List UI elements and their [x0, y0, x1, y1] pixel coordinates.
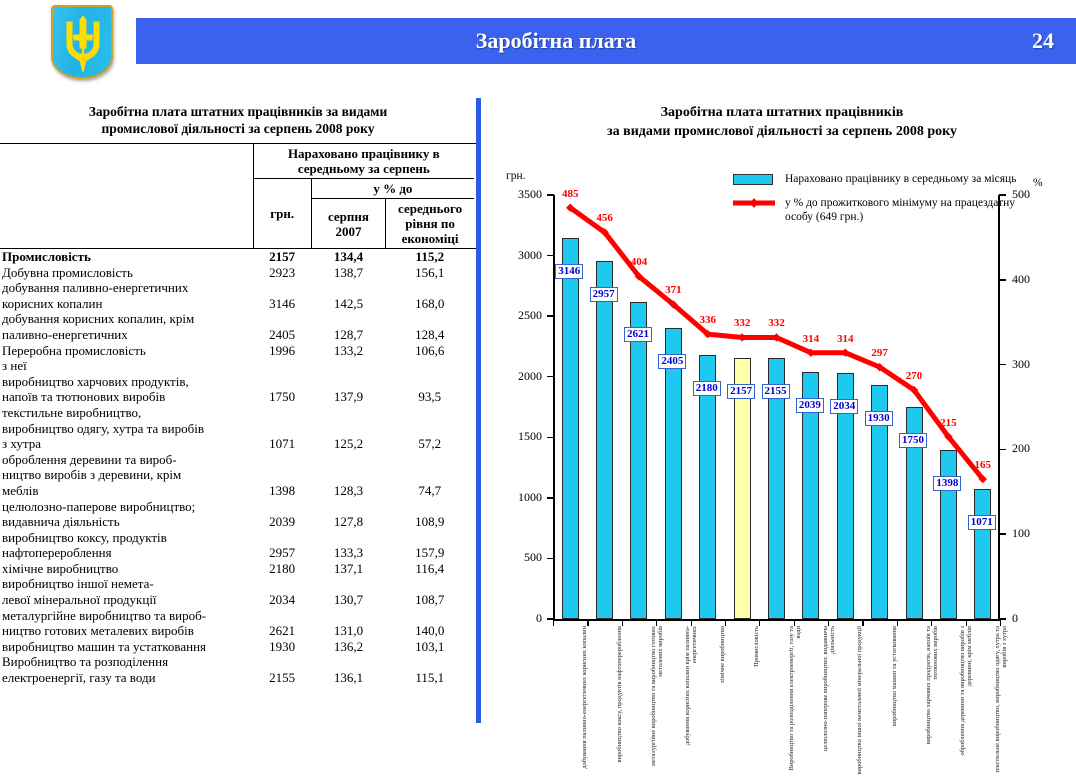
table-row: виробництво іншої немета-	[2, 576, 474, 592]
table-cell-name: целюлозно-паперове виробництво;	[2, 499, 253, 515]
table-row: електроенергії, газу та води2155136,1115…	[2, 670, 474, 686]
table-cell-grn: 1071	[253, 436, 311, 452]
x-axis-category-label: оброблення деревини та виробництво вироб…	[959, 626, 985, 776]
table-row: нафтоперероблення2957133,3157,9	[2, 545, 474, 561]
table-cell-avg: 103,1	[386, 639, 474, 655]
group-line2: середньому за серпень	[255, 161, 473, 176]
table-cell-empty	[386, 421, 474, 437]
table-cell-avg: 140,0	[386, 623, 474, 639]
y-axis-tick-label: 2500	[502, 308, 542, 323]
table-cell-empty	[311, 654, 385, 670]
table-cell-name: нафтоперероблення	[2, 545, 253, 561]
aug-line2: 2007	[313, 224, 384, 239]
table-cell-name: з неї	[2, 358, 253, 374]
y-axis-tick-label: 0	[502, 611, 542, 626]
y2-axis-tick-label: 300	[1012, 357, 1052, 372]
table-cell-empty	[386, 530, 474, 546]
x-axis-category-label: металургійне виробництво та виробництво …	[650, 626, 676, 776]
table-cell-grn: 2405	[253, 327, 311, 343]
table-cell-empty	[253, 654, 311, 670]
table-cell-empty	[253, 280, 311, 296]
table-header: Нараховано працівнику в середньому за се…	[0, 143, 476, 249]
x-axis-category-label: виробництво харчових продуктів, напоїв т…	[925, 626, 951, 776]
table-header-percent: у % до	[311, 179, 474, 199]
table-cell-avg: 115,2	[386, 249, 474, 265]
table-cell-aug: 134,4	[311, 249, 385, 265]
table-row: добування паливно-енергетичних	[2, 280, 474, 296]
table-body: Промисловість2157134,4115,2Добувна проми…	[2, 249, 474, 686]
table-title: Заробітна плата штатних працівників за в…	[0, 95, 476, 143]
table-row: виробництво машин та устатковання1930136…	[2, 639, 474, 655]
x-axis-category-label: виробництво машин та устатковання	[891, 626, 917, 776]
table-cell-aug: 127,8	[311, 514, 385, 530]
table-row: текстильне виробництво,	[2, 405, 474, 421]
x-axis-category-label: целюлозно-паперове виробництво; видавнич…	[822, 626, 848, 776]
table-row: ництво виробів з деревини, крім	[2, 467, 474, 483]
table-cell-grn: 2155	[253, 670, 311, 686]
chart-title-line2: за видами промислової діяльності за серп…	[488, 122, 1076, 141]
table-cell-aug: 137,1	[311, 561, 385, 577]
y2-axis-tick-label: 0	[1012, 611, 1052, 626]
x-axis-category-label: виробництво коксу, продуктів нафтопереро…	[616, 626, 642, 776]
table-header-group: Нараховано працівнику в середньому за се…	[253, 144, 474, 179]
table-cell-empty	[386, 311, 474, 327]
table-cell-name: Переробна промисловість	[2, 343, 253, 359]
table-cell-aug: 130,7	[311, 592, 385, 608]
chart-title: Заробітна плата штатних працівників за в…	[488, 95, 1076, 141]
chart-plot-area: грн. % 0500100015002000250030003500 0100…	[488, 160, 1076, 720]
table-row: меблів1398128,374,7	[2, 483, 474, 499]
x-axis-category-label: виробництво іншої неметалевої мінерально…	[856, 626, 882, 776]
table-cell-name: текстильне виробництво,	[2, 405, 253, 421]
table-header-grn: грн.	[253, 179, 311, 249]
table-cell-name: електроенергії, газу та води	[2, 670, 253, 686]
table-cell-empty	[311, 499, 385, 515]
legend-item-bars: Нараховано працівнику в середньому за мі…	[733, 172, 1033, 186]
aug-line1: серпня	[313, 209, 384, 224]
y-axis-tick-label: 1000	[502, 490, 542, 505]
line-value-label: 404	[623, 256, 655, 268]
table-cell-empty	[386, 576, 474, 592]
table-cell-aug: 128,3	[311, 483, 385, 499]
x-axis-line	[553, 619, 1000, 621]
table-cell-empty	[253, 374, 311, 390]
table-cell-avg: 128,4	[386, 327, 474, 343]
y2-axis-tick-label: 400	[1012, 272, 1052, 287]
table-row: паливно-енергетичних2405128,7128,4	[2, 327, 474, 343]
table-cell-name: левої мінеральної продукції	[2, 592, 253, 608]
table-cell-avg: 93,5	[386, 389, 474, 405]
table-cell-avg: 106,6	[386, 343, 474, 359]
table-cell-grn: 2923	[253, 265, 311, 281]
title-bar: Заробітна плата 24	[136, 18, 1076, 64]
table-cell-empty	[386, 280, 474, 296]
table-cell-avg: 168,0	[386, 296, 474, 312]
table-row: Переробна промисловість1996133,2106,6	[2, 343, 474, 359]
table-cell-avg: 108,9	[386, 514, 474, 530]
y-axis-tick-label: 500	[502, 550, 542, 565]
chart-title-line1: Заробітна плата штатних працівників	[488, 103, 1076, 122]
table-header-avg: середнього рівня по економіці	[386, 199, 474, 249]
chart-panel: Заробітна плата штатних працівників за в…	[488, 95, 1076, 723]
table-row: металургійне виробництво та вироб-	[2, 608, 474, 624]
table-cell-name: добування паливно-енергетичних	[2, 280, 253, 296]
line-value-label: 314	[829, 333, 861, 345]
line-value-label: 332	[726, 317, 758, 329]
table-cell-grn: 1398	[253, 483, 311, 499]
table-cell-grn: 2034	[253, 592, 311, 608]
table-cell-empty	[311, 311, 385, 327]
line-value-label: 332	[761, 317, 793, 329]
table-cell-name: з хутра	[2, 436, 253, 452]
line-value-label: 314	[795, 333, 827, 345]
table-row: виробництво одягу, хутра та виробів	[2, 421, 474, 437]
table-cell-name: виробництво машин та устатковання	[2, 639, 253, 655]
y2-axis-tick	[999, 279, 1006, 281]
table-cell-empty	[253, 405, 311, 421]
table-cell-name: виробництво харчових продуктів,	[2, 374, 253, 390]
table-cell-empty	[386, 374, 474, 390]
table-cell-empty	[311, 405, 385, 421]
y2-axis-tick-label: 200	[1012, 441, 1052, 456]
x-axis-category-label: Виробництво та розподілення електроенерг…	[788, 626, 814, 776]
line-value-label: 165	[967, 459, 999, 471]
table-cell-avg	[386, 358, 474, 374]
line-value-label: 215	[932, 417, 964, 429]
legend-line-label: у % до прожиткового мінімуму на працезда…	[785, 197, 1015, 223]
table-cell-name: ництво готових металевих виробів	[2, 623, 253, 639]
table-cell-aug: 131,0	[311, 623, 385, 639]
table-row: Промисловість2157134,4115,2	[2, 249, 474, 265]
x-axis-category-label: Промисловість	[753, 626, 779, 776]
table-cell-grn: 2180	[253, 561, 311, 577]
table-cell-grn: 2957	[253, 545, 311, 561]
table-cell-grn	[253, 358, 311, 374]
table-cell-empty	[311, 576, 385, 592]
table-cell-aug: 142,5	[311, 296, 385, 312]
table-cell-name: добування корисних копалин, крім	[2, 311, 253, 327]
table-cell-name: паливно-енергетичних	[2, 327, 253, 343]
table-header-blank	[2, 144, 253, 248]
table-row: корисних копалин3146142,5168,0	[2, 296, 474, 312]
table-cell-empty	[253, 311, 311, 327]
table-row: левої мінеральної продукції2034130,7108,…	[2, 592, 474, 608]
table-cell-aug: 133,2	[311, 343, 385, 359]
table-cell-empty	[253, 452, 311, 468]
line-value-label: 371	[657, 284, 689, 296]
table-cell-aug	[311, 358, 385, 374]
group-line1: Нараховано працівнику в	[255, 146, 473, 161]
table-cell-empty	[311, 280, 385, 296]
table-row: целюлозно-паперове виробництво;	[2, 499, 474, 515]
y-axis-tick-label: 2000	[502, 369, 542, 384]
table-cell-avg: 115,1	[386, 670, 474, 686]
table-cell-name: видавнича діяльність	[2, 514, 253, 530]
avg-line3: економіці	[387, 231, 473, 246]
table-row: ництво готових металевих виробів2621131,…	[2, 623, 474, 639]
y-axis-unit-label: грн.	[506, 170, 526, 182]
table-cell-avg: 57,2	[386, 436, 474, 452]
table-cell-name: виробництво іншої немета-	[2, 576, 253, 592]
table-cell-name: ництво виробів з деревини, крім	[2, 467, 253, 483]
table-row: виробництво харчових продуктів,	[2, 374, 474, 390]
table-row: з хутра1071125,257,2	[2, 436, 474, 452]
table-row: Виробництво та розподілення	[2, 654, 474, 670]
table-cell-grn: 1996	[253, 343, 311, 359]
line-value-label: 336	[692, 314, 724, 326]
table-cell-empty	[253, 576, 311, 592]
table-row: оброблення деревини та вироб-	[2, 452, 474, 468]
table-cell-name: корисних копалин	[2, 296, 253, 312]
y2-axis-tick-label: 100	[1012, 526, 1052, 541]
table-cell-avg: 157,9	[386, 545, 474, 561]
table-cell-name: металургійне виробництво та вироб-	[2, 608, 253, 624]
table-cell-grn: 3146	[253, 296, 311, 312]
table-cell-name: Промисловість	[2, 249, 253, 265]
table-cell-empty	[311, 374, 385, 390]
table-cell-empty	[253, 467, 311, 483]
table-header-aug2007: серпня 2007	[311, 199, 385, 249]
table-cell-empty	[253, 421, 311, 437]
ukraine-coat-of-arms-icon	[47, 2, 119, 84]
table-cell-grn: 2157	[253, 249, 311, 265]
table-row: напоїв та тютюнових виробів1750137,993,5	[2, 389, 474, 405]
table-panel: Заробітна плата штатних працівників за в…	[0, 95, 476, 723]
chart-legend: Нараховано працівнику в середньому за мі…	[733, 172, 1033, 234]
y-axis-tick-label: 1500	[502, 429, 542, 444]
table-cell-empty	[253, 530, 311, 546]
table-cell-empty	[253, 608, 311, 624]
line-value-label: 485	[554, 188, 586, 200]
table-cell-grn: 1750	[253, 389, 311, 405]
table-cell-empty	[311, 530, 385, 546]
table-cell-aug: 138,7	[311, 265, 385, 281]
table-cell-grn: 2621	[253, 623, 311, 639]
table-cell-empty	[386, 452, 474, 468]
y2-axis-tick	[999, 449, 1006, 451]
table-cell-empty	[386, 608, 474, 624]
x-axis-category-label: хімічне виробництво	[719, 626, 745, 776]
legend-bar-label: Нараховано працівнику в середньому за мі…	[785, 173, 1016, 185]
table-cell-empty	[386, 654, 474, 670]
y2-axis-tick	[999, 364, 1006, 366]
legend-bar-swatch-icon	[733, 174, 773, 185]
table-cell-name: меблів	[2, 483, 253, 499]
table-cell-name: хімічне виробництво	[2, 561, 253, 577]
table-cell-name: оброблення деревини та вироб-	[2, 452, 253, 468]
table-row: хімічне виробництво2180137,1116,4	[2, 561, 474, 577]
table-cell-name: напоїв та тютюнових виробів	[2, 389, 253, 405]
table-cell-name: Добувна промисловість	[2, 265, 253, 281]
table-row: виробництво коксу, продуктів	[2, 530, 474, 546]
table-cell-grn: 1930	[253, 639, 311, 655]
line-value-label: 456	[589, 212, 621, 224]
y-axis-tick-label: 3000	[502, 248, 542, 263]
y2-axis-tick	[999, 533, 1006, 535]
table-cell-aug: 128,7	[311, 327, 385, 343]
x-axis-category-label: добування корисних копалин крім паливно-…	[684, 626, 710, 776]
avg-line2: рівня по	[387, 216, 473, 231]
line-path	[570, 208, 983, 479]
table-cell-name: виробництво коксу, продуктів	[2, 530, 253, 546]
table-row: видавнича діяльність2039127,8108,9	[2, 514, 474, 530]
vertical-divider	[476, 98, 481, 723]
legend-line-swatch-icon	[733, 197, 775, 209]
table-cell-aug: 136,1	[311, 670, 385, 686]
line-series	[553, 195, 1000, 619]
table-row: добування корисних копалин, крім	[2, 311, 474, 327]
table-cell-empty	[311, 421, 385, 437]
table-cell-empty	[311, 608, 385, 624]
table-cell-avg: 108,7	[386, 592, 474, 608]
table-cell-empty	[386, 467, 474, 483]
table-cell-grn: 2039	[253, 514, 311, 530]
line-value-label: 270	[898, 370, 930, 382]
table-title-line2: промислової діяльності за серпень 2008 р…	[12, 120, 464, 137]
table-cell-avg: 116,4	[386, 561, 474, 577]
slide-header: Заробітна плата 24	[0, 0, 1076, 90]
table-cell-name: виробництво одягу, хутра та виробів	[2, 421, 253, 437]
table-cell-empty	[386, 405, 474, 421]
table-cell-aug: 125,2	[311, 436, 385, 452]
table-row: з неї	[2, 358, 474, 374]
line-marker	[738, 333, 746, 341]
table-cell-avg: 156,1	[386, 265, 474, 281]
table-cell-avg: 74,7	[386, 483, 474, 499]
table-cell-aug: 133,3	[311, 545, 385, 561]
table-cell-empty	[386, 499, 474, 515]
avg-line1: середнього	[387, 201, 473, 216]
page-title: Заробітна плата	[136, 18, 976, 64]
table-cell-empty	[311, 452, 385, 468]
legend-item-line: у % до прожиткового мінімуму на працезда…	[733, 196, 1033, 224]
x-axis-category-label: добування паливно-енергетичних корисних …	[581, 626, 607, 776]
table-title-line1: Заробітна плата штатних працівників за в…	[12, 103, 464, 120]
slide-number: 24	[1032, 18, 1054, 64]
x-axis-category-label: текстильне виробництво, виробництво одяг…	[994, 626, 1020, 776]
line-value-label: 297	[864, 347, 896, 359]
table-cell-empty	[311, 467, 385, 483]
table-cell-name: Виробництво та розподілення	[2, 654, 253, 670]
table-row: Добувна промисловість2923138,7156,1	[2, 265, 474, 281]
table-cell-empty	[253, 499, 311, 515]
table-cell-aug: 136,2	[311, 639, 385, 655]
y-axis-tick-label: 3500	[502, 187, 542, 202]
x-axis-labels: добування паливно-енергетичних корисних …	[553, 626, 1000, 776]
table-cell-aug: 137,9	[311, 389, 385, 405]
